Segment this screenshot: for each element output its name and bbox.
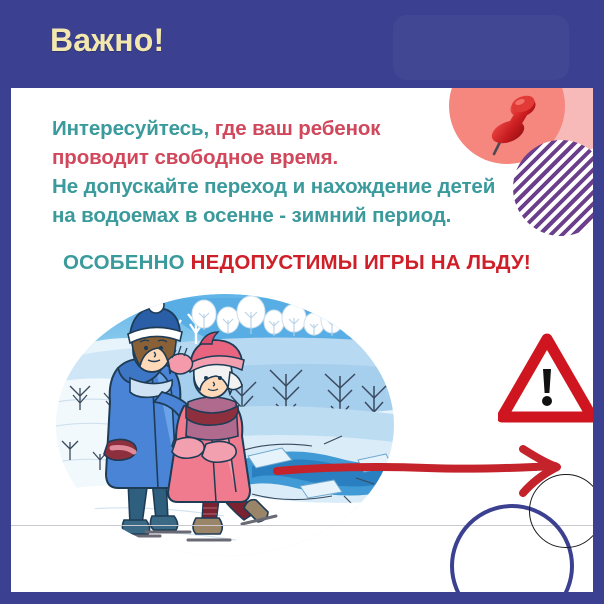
- red-hand-drawn-arrow: [273, 445, 573, 503]
- headline-teal: ОСОБЕННО: [63, 251, 185, 274]
- header-ghost-panel: [393, 15, 569, 80]
- headline-red: НЕДОПУСТИМЫ ИГРЫ НА ЛЬДУ!: [185, 251, 531, 274]
- copy-line-2: проводит свободное время.: [52, 143, 572, 172]
- copy-line-1-crimson: где ваш ребенок: [209, 117, 380, 140]
- headline: ОСОБЕННО НЕДОПУСТИМЫ ИГРЫ НА ЛЬДУ!: [63, 251, 531, 275]
- ice-skating-illustration: [56, 294, 394, 556]
- content-card: Интересуйтесь, где ваш ребенок проводит …: [11, 88, 593, 592]
- body-copy: Интересуйтесь, где ваш ребенок проводит …: [52, 114, 572, 230]
- poster-root: Важно!: [0, 0, 604, 604]
- copy-line-4: на водоемах в осенне - зимний период.: [52, 201, 572, 230]
- copy-line-1-teal: Интересуйтесь,: [52, 117, 209, 140]
- page-title: Важно!: [50, 22, 164, 59]
- thin-circle-outline: [529, 474, 593, 548]
- warning-triangle-icon: [498, 333, 593, 423]
- copy-line-1: Интересуйтесь, где ваш ребенок: [52, 114, 572, 143]
- copy-line-3: Не допускайте переход и нахождение детей: [52, 172, 572, 201]
